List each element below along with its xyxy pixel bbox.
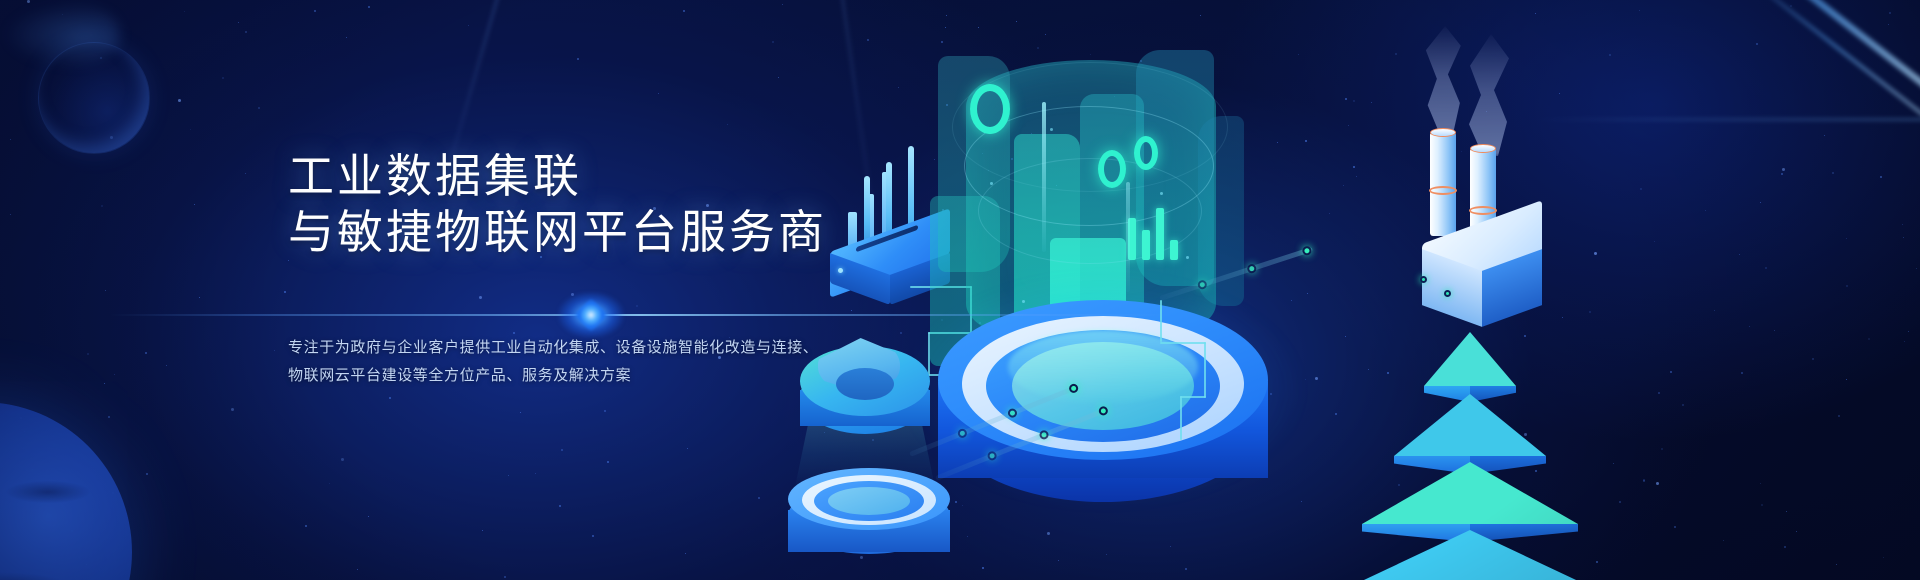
- layered-pyramid-icon: [1320, 332, 1620, 580]
- hero-copy: 工业数据集联 与敏捷物联网平台服务商 专注于为政府与企业客户提供工业自动化集成、…: [288, 148, 968, 260]
- planet-bottom-left-icon: [0, 402, 132, 580]
- page-title-line1: 工业数据集联: [288, 148, 968, 204]
- gauge-ring-small-1-icon: [1098, 150, 1126, 188]
- light-glow-right: [0, 0, 120, 70]
- gauge-ring-large-icon: [970, 84, 1010, 134]
- factory-smokestacks-icon: [1400, 70, 1580, 330]
- divider: [110, 314, 1170, 316]
- glowing-base-ring-icon: [788, 468, 950, 560]
- hero-banner: 工业数据集联 与敏捷物联网平台服务商 专注于为政府与企业客户提供工业自动化集成、…: [0, 0, 1920, 580]
- hero-subtitle-line1: 专注于为政府与企业客户提供工业自动化集成、设备设施智能化改造与连接、: [288, 334, 848, 362]
- hero-subtitle-line2: 物联网云平台建设等全方位产品、服务及解决方案: [288, 362, 848, 390]
- hero-subtitle: 专注于为政府与企业客户提供工业自动化集成、设备设施智能化改造与连接、 物联网云平…: [288, 334, 848, 390]
- gauge-ring-small-2-icon: [1134, 136, 1158, 170]
- page-title-line2: 与敏捷物联网平台服务商: [288, 204, 968, 260]
- isometric-illustration: [760, 0, 1920, 580]
